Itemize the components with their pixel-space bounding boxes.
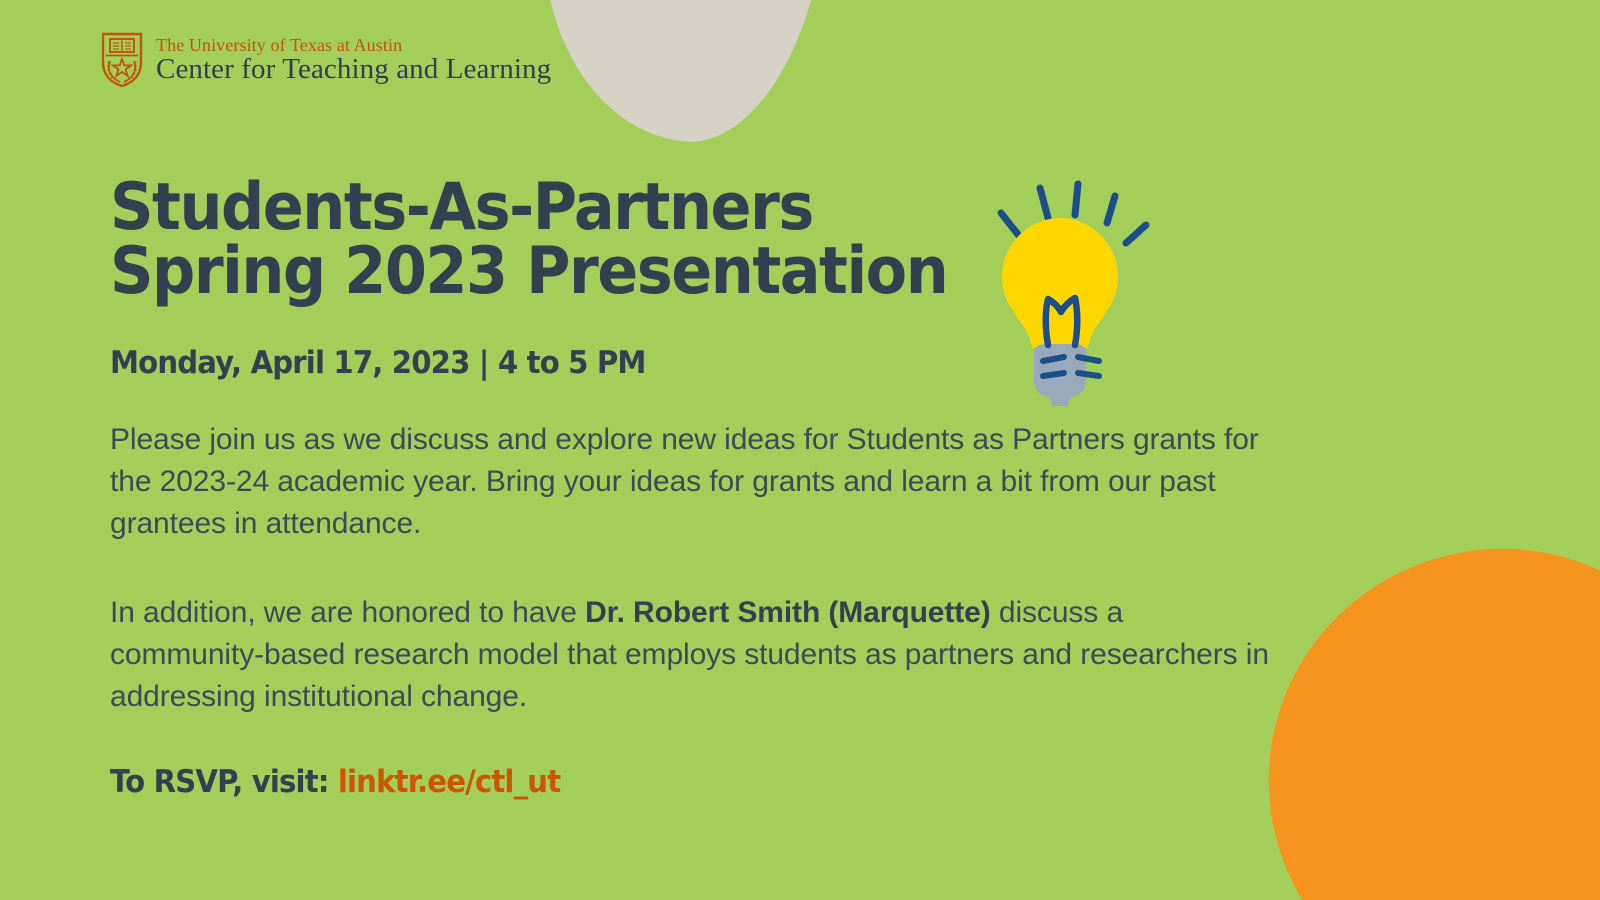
ut-ctl-logo: The University of Texas at Austin Center… <box>100 32 551 88</box>
decorative-blob-orange <box>1239 521 1600 900</box>
paragraph-2-before: In addition, we are honored to have <box>110 596 585 629</box>
speaker-name: Dr. Robert Smith (Marquette) <box>585 596 991 629</box>
logo-wordmark: The University of Texas at Austin Center… <box>156 36 551 85</box>
event-flyer: The University of Texas at Austin Center… <box>0 0 1600 900</box>
rsvp-link[interactable]: linktr.ee/ctl_ut <box>338 764 560 800</box>
event-datetime: Monday, April 17, 2023 | 4 to 5 PM <box>110 345 1219 381</box>
logo-unit: Center for Teaching and Learning <box>156 54 551 84</box>
decorative-blob-beige <box>522 0 837 154</box>
rsvp-label: To RSVP, visit: <box>110 764 338 800</box>
page-title: Students-As-Partners Spring 2023 Present… <box>110 176 1207 303</box>
description-paragraph-2: In addition, we are honored to have Dr. … <box>110 592 1275 718</box>
logo-institution: The University of Texas at Austin <box>156 36 551 55</box>
ut-shield-icon <box>100 32 144 88</box>
description-paragraph-1: Please join us as we discuss and explore… <box>110 419 1275 545</box>
flyer-content: Students-As-Partners Spring 2023 Present… <box>110 176 1290 800</box>
rsvp-line: To RSVP, visit: linktr.ee/ctl_ut <box>110 764 1219 800</box>
